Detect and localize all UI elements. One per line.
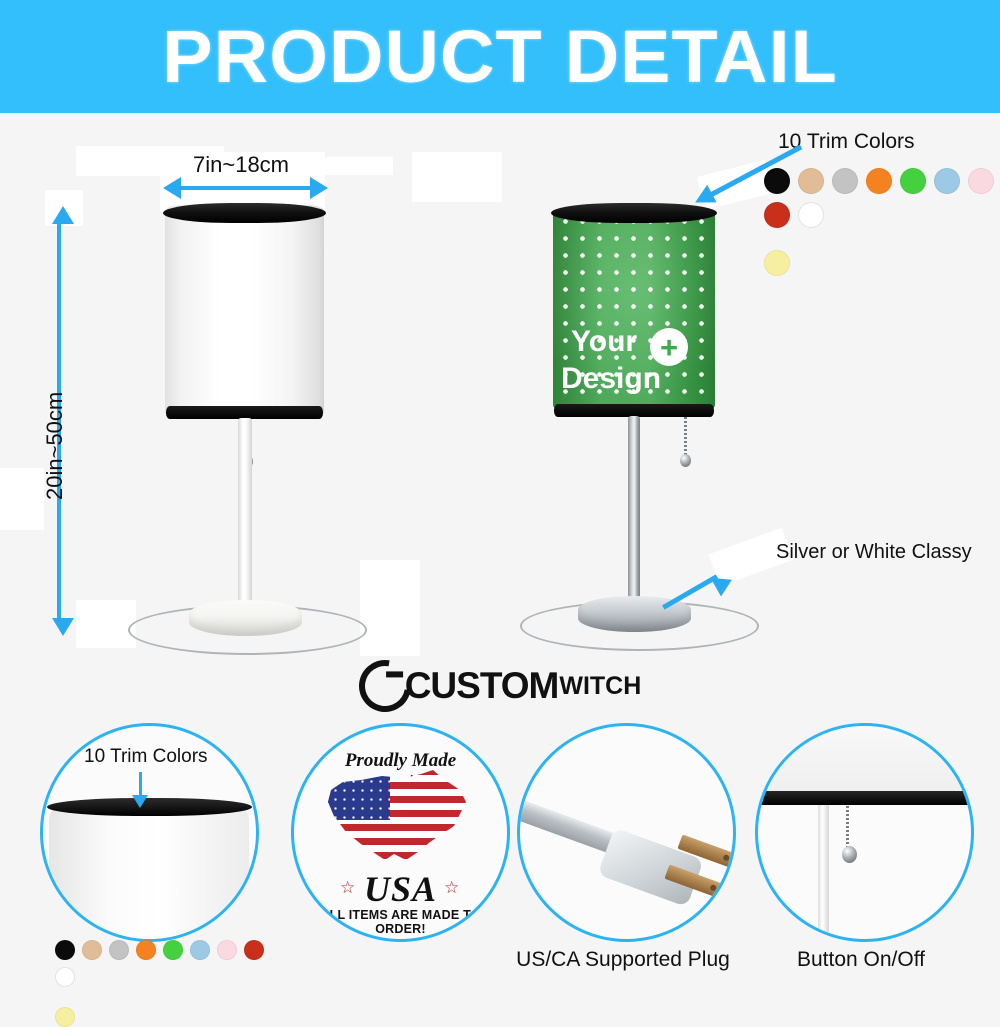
brand-name-main: CUSTOM <box>405 665 559 707</box>
trim-color-swatch-gray[interactable] <box>832 168 858 194</box>
trim-color-swatches-top[interactable] <box>764 168 1000 276</box>
trim-color-swatch-tan[interactable] <box>798 168 824 194</box>
base-finish-label: Silver or White Classy <box>776 541 972 564</box>
plug-prong-hole <box>709 884 717 892</box>
feature-circle-switch <box>755 723 974 942</box>
pull-chain[interactable] <box>684 417 687 457</box>
pull-chain-ball[interactable] <box>680 454 691 467</box>
trim-color-swatches-bottom[interactable] <box>55 940 270 1027</box>
bg-patch <box>0 468 44 530</box>
trim-color-swatch-tan[interactable] <box>82 940 102 960</box>
trim-color-swatch-pink[interactable] <box>217 940 237 960</box>
height-arrow-up <box>52 206 74 224</box>
shade-closeup-white <box>49 804 249 942</box>
brand-name-sub-wrap: WITCH <box>559 671 641 701</box>
trim-color-swatch-red[interactable] <box>764 202 790 228</box>
trim-color-swatch-yellow[interactable] <box>55 1007 75 1027</box>
trim-color-swatch-pink[interactable] <box>968 168 994 194</box>
width-arrow-right <box>310 177 328 199</box>
trim-color-swatch-light-blue[interactable] <box>934 168 960 194</box>
feature-plug-caption: US/CA Supported Plug <box>498 948 748 972</box>
usa-star-left-icon: ☆ <box>340 878 355 898</box>
shade-closeup-trim <box>47 798 252 816</box>
swatch-row-break <box>55 994 270 1000</box>
brand-c-monogram-icon <box>348 650 420 722</box>
trim-color-swatch-yellow[interactable] <box>764 250 790 276</box>
feature-circle-made-in-usa: Proudly Made in the USA ☆ ☆ ALL ITEMS AR… <box>291 723 510 942</box>
trim-color-swatch-green[interactable] <box>900 168 926 194</box>
your-design-line2: Design <box>561 362 661 396</box>
height-dimension-label: 20in~50cm <box>42 392 68 500</box>
width-dimension-line <box>180 186 310 190</box>
lamp-pole-silver <box>628 416 640 602</box>
lamp-base-white <box>189 600 302 636</box>
feature-trim-colors-label: 10 Trim Colors <box>84 746 208 768</box>
usa-star-right-icon: ☆ <box>444 878 459 898</box>
switch-pull-chain-ball[interactable] <box>842 846 857 863</box>
your-design-line1: Your <box>571 325 637 359</box>
usa-badge-word: USA <box>294 868 507 910</box>
trim-color-swatch-light-blue[interactable] <box>190 940 210 960</box>
brand-name-sub: WITCH <box>559 671 641 701</box>
header-banner: PRODUCT DETAIL <box>0 0 1000 113</box>
feature-circle-plug <box>517 723 736 942</box>
bg-patch <box>360 560 420 656</box>
trim-color-swatch-orange[interactable] <box>866 168 892 194</box>
trim-color-swatch-orange[interactable] <box>136 940 156 960</box>
lamp-pole-white <box>238 418 252 606</box>
trim-color-swatch-black[interactable] <box>764 168 790 194</box>
header-underline <box>0 113 1000 117</box>
brand-logo: CUSTOM WITCH <box>0 664 1000 708</box>
switch-pull-chain[interactable] <box>846 806 849 849</box>
width-arrow-left <box>163 177 181 199</box>
bg-patch <box>76 600 136 648</box>
feature-trim-colors-arrow-head <box>132 795 148 808</box>
trim-color-swatch-black[interactable] <box>55 940 75 960</box>
trim-color-swatch-gray[interactable] <box>109 940 129 960</box>
page-title: PRODUCT DETAIL <box>0 0 1000 113</box>
switch-lamp-pole <box>818 805 829 940</box>
trim-color-swatch-green[interactable] <box>163 940 183 960</box>
usa-badge-line1: Proudly Made <box>294 750 507 772</box>
width-dimension-label: 7in~18cm <box>193 152 289 178</box>
lamp-shade-white <box>165 205 324 418</box>
usa-map-flag-icon <box>322 768 472 868</box>
trim-color-swatch-white[interactable] <box>55 967 75 987</box>
shade-top-trim-green <box>551 203 717 223</box>
switch-shade-trim <box>758 791 973 805</box>
product-detail-infographic: PRODUCT DETAIL 10 Trim Colors 7in~18cm <box>0 0 1000 1000</box>
usa-badge-sub: ALL ITEMS ARE MADE TO ORDER! <box>294 908 507 936</box>
height-arrow-down <box>52 618 74 636</box>
switch-shade-closeup <box>755 723 974 796</box>
feature-switch-caption: Button On/Off <box>736 948 986 972</box>
your-design-placeholder: Your Design + <box>571 325 699 405</box>
add-design-plus-icon[interactable]: + <box>650 328 688 366</box>
shade-top-trim <box>163 203 326 223</box>
swatch-row-break <box>764 236 1000 242</box>
plug-prong-hole <box>722 854 730 862</box>
trim-color-swatch-white[interactable] <box>798 202 824 228</box>
trim-color-swatch-red[interactable] <box>244 940 264 960</box>
bg-patch <box>318 157 393 175</box>
bg-patch <box>412 152 502 202</box>
lamp-shade-green[interactable]: Your Design + <box>553 207 715 412</box>
